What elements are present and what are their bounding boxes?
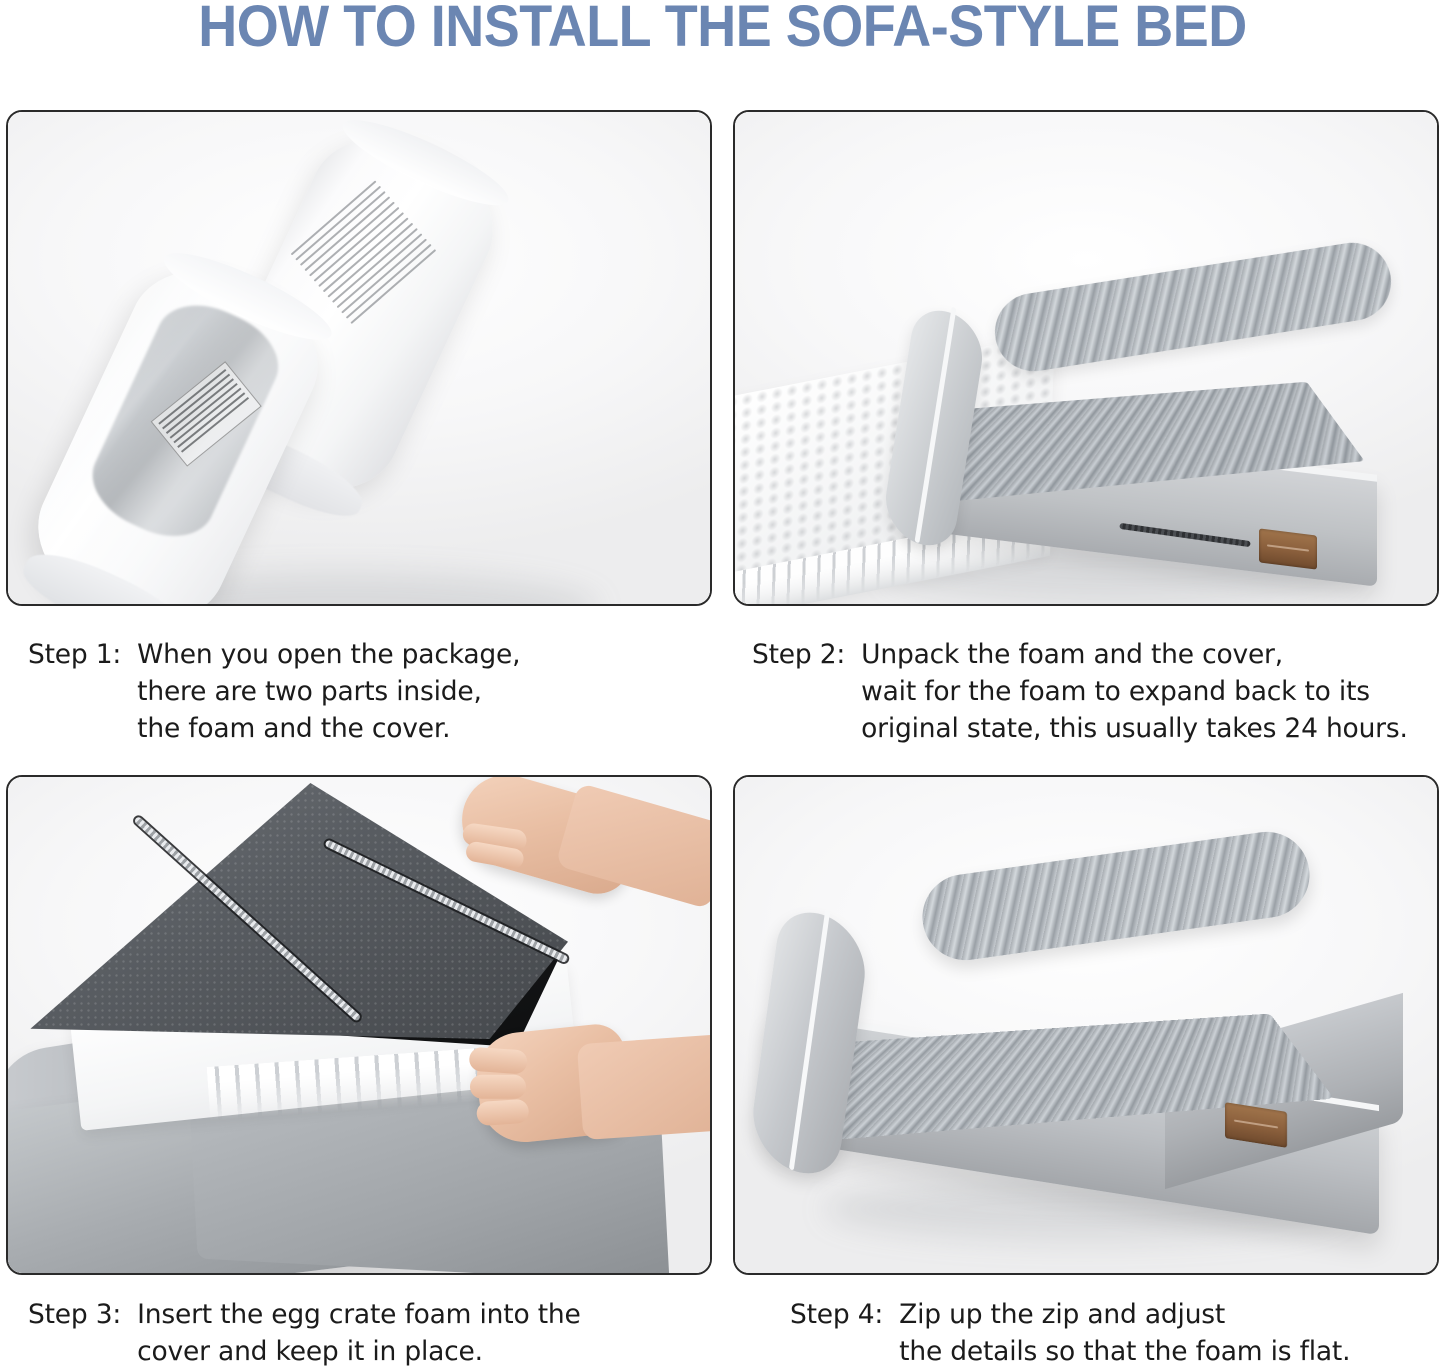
step-3-line-1: Insert the egg crate foam into the [137,1296,688,1333]
step-3-photo [8,777,710,1273]
step-4-text: Zip up the zip and adjust the details so… [899,1296,1440,1370]
step-4-label: Step 4: [790,1296,899,1333]
step-3-caption: Step 3: Insert the egg crate foam into t… [28,1296,688,1370]
step-1-line-3: the foam and the cover. [137,710,688,747]
back-bolster [989,237,1396,377]
step-3-label: Step 3: [28,1296,137,1333]
step-4-line-2: the details so that the foam is flat. [899,1333,1440,1370]
step-2-line-3: original state, this usually takes 24 ho… [861,710,1442,747]
leather-brand-tag [1259,528,1317,569]
bed-cover-assembly [881,232,1409,572]
step-1-line-1: When you open the package, [137,636,688,673]
step-1-text: When you open the package, there are two… [137,636,688,747]
step-4-caption: Step 4: Zip up the zip and adjust the de… [790,1296,1440,1370]
step-1-caption: Step 1: When you open the package, there… [28,636,688,747]
back-bolster [917,826,1315,965]
forearm-lower [577,1034,712,1140]
step-4-line-1: Zip up the zip and adjust [899,1296,1440,1333]
step-4-photo [735,777,1437,1273]
infographic-page: HOW TO INSTALL THE SOFA-STYLE BED [0,0,1445,1370]
step-2-photo [735,112,1437,604]
step-2-image-panel [733,110,1439,606]
step-1-image-panel [6,110,712,606]
page-title: HOW TO INSTALL THE SOFA-STYLE BED [51,0,1395,58]
step-2-caption: Step 2: Unpack the foam and the cover, w… [752,636,1442,747]
step-4-image-panel [733,775,1439,1275]
step-1-line-2: there are two parts inside, [137,673,688,710]
step-1-label: Step 1: [28,636,137,673]
step-2-line-1: Unpack the foam and the cover, [861,636,1442,673]
step-2-label: Step 2: [752,636,861,673]
step-2-text: Unpack the foam and the cover, wait for … [861,636,1442,747]
step-3-image-panel [6,775,712,1275]
step-2-line-2: wait for the foam to expand back to its [861,673,1442,710]
step-1-photo [8,112,710,604]
step-3-text: Insert the egg crate foam into the cover… [137,1296,688,1370]
forearm-upper [555,783,712,910]
step-3-line-2: cover and keep it in place. [137,1333,688,1370]
